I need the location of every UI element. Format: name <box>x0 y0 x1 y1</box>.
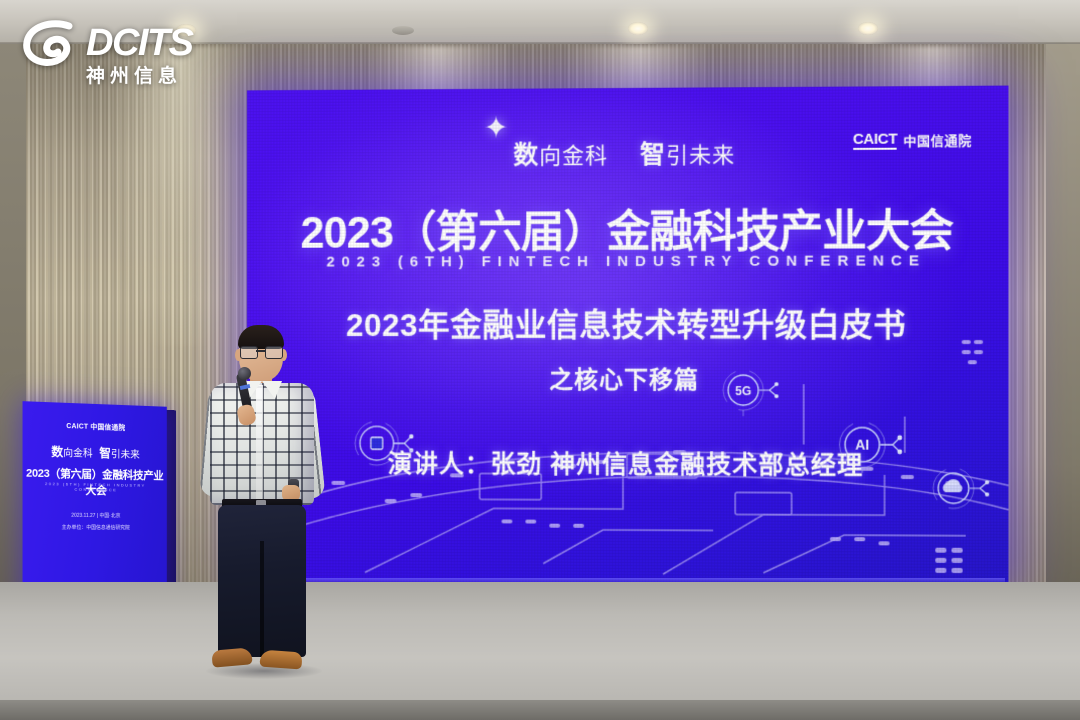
right-wall <box>1046 44 1080 644</box>
downlight-icon <box>628 22 648 35</box>
stage-front-edge <box>0 700 1080 720</box>
trouser-seam <box>260 541 264 657</box>
dcits-watermark-text: DCITS 神州信息 <box>86 18 193 86</box>
podium-host-line: 主办单位：中国信息通信研究院 <box>23 523 167 531</box>
dcits-swirl-icon <box>22 18 78 70</box>
podium-slogan-char-a: 数 <box>51 445 63 459</box>
curtain-light-glow <box>110 46 250 346</box>
podium-caict-logo: CAICT 中国信通院 <box>23 419 167 434</box>
podium-slogan-rest-b: 引未来 <box>111 449 140 461</box>
speaker-shoe-right <box>259 650 302 670</box>
podium-slogan-char-b: 智 <box>99 446 111 460</box>
downlight-icon <box>858 22 878 35</box>
dcits-watermark-cn: 神州信息 <box>86 67 193 86</box>
podium-slogan-rest-a: 向金科 <box>63 448 93 460</box>
led-screen: AI 5G ✦ ✦ CAICT 中国信通院 <box>247 86 1009 587</box>
photo-scene: AI 5G ✦ ✦ CAICT 中国信通院 <box>0 0 1080 720</box>
microphone-head <box>238 367 251 380</box>
podium-date-line: 2023.11.27 | 中国·北京 <box>23 511 167 519</box>
shirt-placket <box>256 385 263 503</box>
glasses-icon <box>240 346 282 358</box>
glasses-bridge <box>256 350 265 352</box>
ceiling-vent-icon <box>392 26 414 35</box>
speaker-person <box>196 327 328 679</box>
speaker-shoe-left <box>211 647 252 667</box>
podium-slogan: 数向金科 智引未来 <box>23 442 167 463</box>
dcits-watermark: DCITS 神州信息 <box>22 18 193 86</box>
glasses-lens <box>265 346 283 359</box>
led-pixel-grid <box>247 86 1009 587</box>
glasses-lens <box>240 346 258 359</box>
dcits-watermark-en: DCITS <box>86 24 193 62</box>
